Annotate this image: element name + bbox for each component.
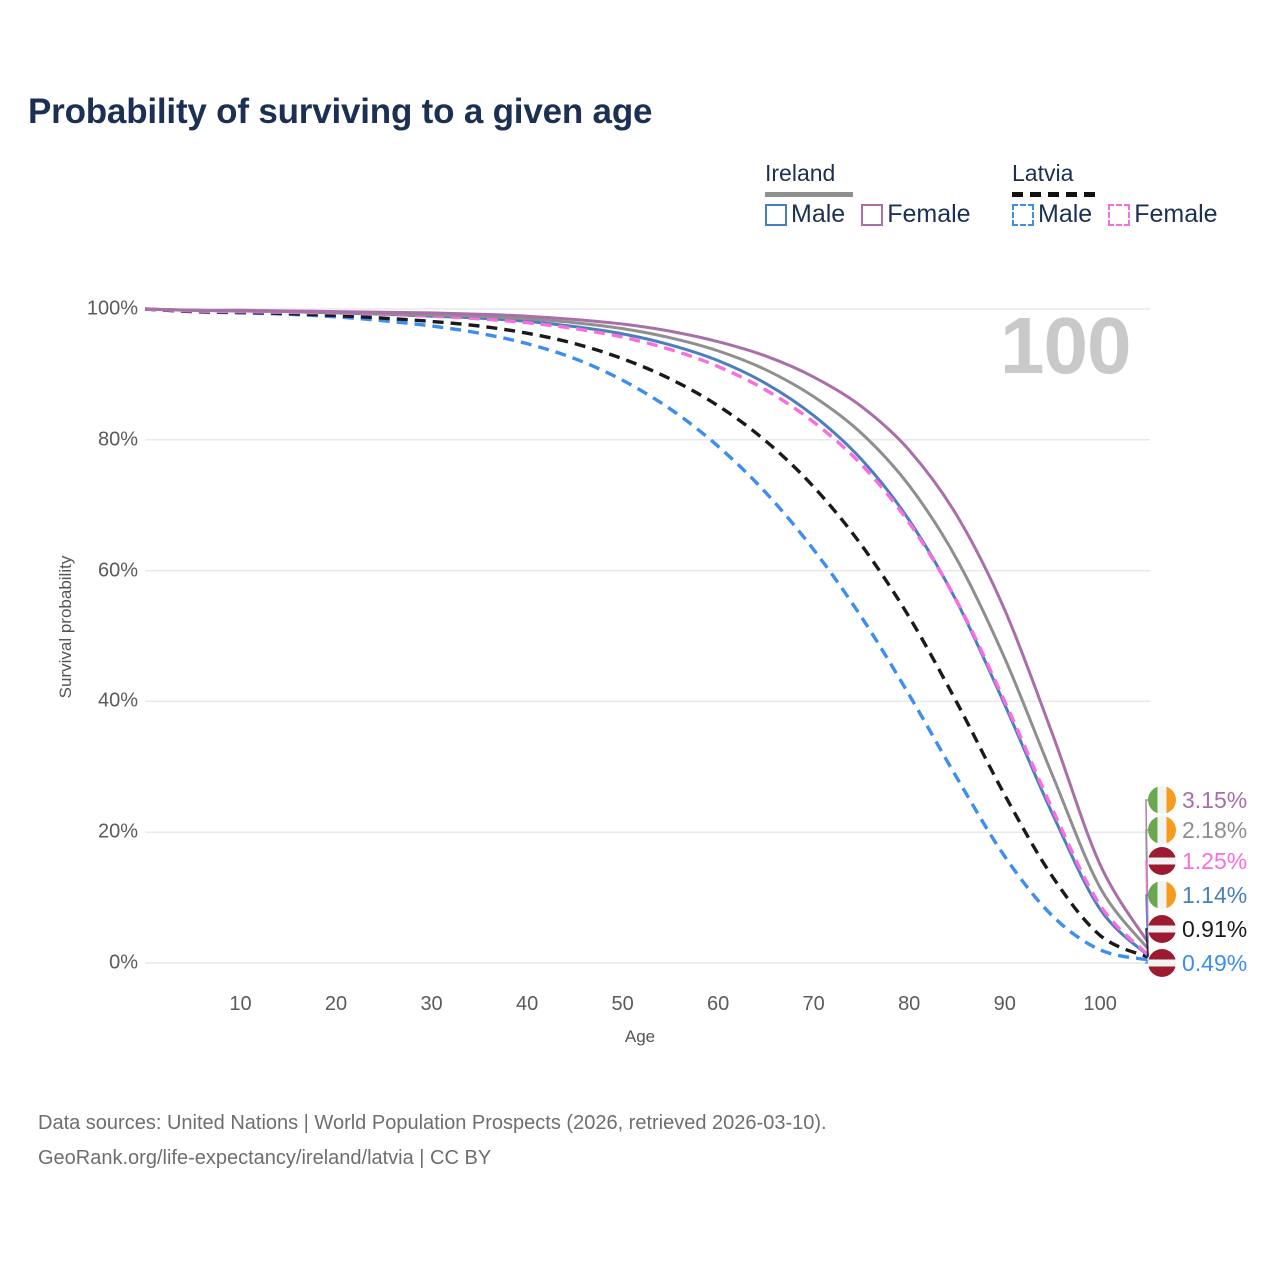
end-label-2: 1.25% [1148,846,1247,876]
chart-container: Probability of surviving to a given age … [0,0,1280,1280]
end-label-0: 3.15% [1148,785,1247,815]
x-tick-label-20: 20 [325,993,347,1016]
footer-line-1: Data sources: United Nations | World Pop… [38,1106,827,1141]
x-tick-label-10: 10 [229,993,251,1016]
end-label-value-3: 1.14% [1182,882,1247,909]
y-axis-title: Survival probability [56,517,76,737]
end-label-5: 0.49% [1148,948,1247,978]
x-tick-label-40: 40 [516,993,538,1016]
plot-watermark: 100 [1000,300,1130,392]
end-label-4: 0.91% [1148,914,1247,944]
y-tick-label-80%: 80% [20,428,138,451]
flag-icon-ireland [1148,881,1176,909]
y-tick-label-100%: 100% [20,298,138,321]
x-tick-label-50: 50 [611,993,633,1016]
end-label-value-1: 2.18% [1182,817,1247,844]
end-label-value-4: 0.91% [1182,916,1247,943]
x-tick-label-30: 30 [420,993,442,1016]
footer-line-2: GeoRank.org/life-expectancy/ireland/latv… [38,1141,827,1176]
end-label-3: 1.14% [1148,880,1247,910]
x-tick-label-80: 80 [898,993,920,1016]
plot-svg [0,0,1280,1280]
series-line-ireland-female [145,309,1148,942]
flag-icon-latvia [1148,949,1176,977]
plot-area: 100 0%20%40%60%80%100% 10203040506070809… [0,0,1280,1280]
end-label-value-0: 3.15% [1182,787,1247,814]
y-tick-label-40%: 40% [20,690,138,713]
y-tick-label-0%: 0% [20,952,138,975]
x-axis-title: Age [540,1027,740,1047]
end-label-value-5: 0.49% [1182,950,1247,977]
end-label-value-2: 1.25% [1182,848,1247,875]
flag-icon-latvia [1148,915,1176,943]
series-line-ireland-male [145,309,1148,956]
flag-icon-latvia [1148,847,1176,875]
x-tick-label-70: 70 [803,993,825,1016]
x-tick-label-90: 90 [994,993,1016,1016]
series-line-ireland-all [145,309,1148,949]
flag-icon-ireland [1148,816,1176,844]
y-tick-label-20%: 20% [20,821,138,844]
y-tick-label-60%: 60% [20,559,138,582]
x-tick-label-100: 100 [1084,993,1117,1016]
series-line-latvia-male [145,309,1148,960]
end-label-1: 2.18% [1148,815,1247,845]
series-line-latvia-female [145,309,1148,955]
series-line-latvia-all [145,309,1148,957]
footer-credits: Data sources: United Nations | World Pop… [38,1106,827,1176]
flag-icon-ireland [1148,786,1176,814]
x-tick-label-60: 60 [707,993,729,1016]
